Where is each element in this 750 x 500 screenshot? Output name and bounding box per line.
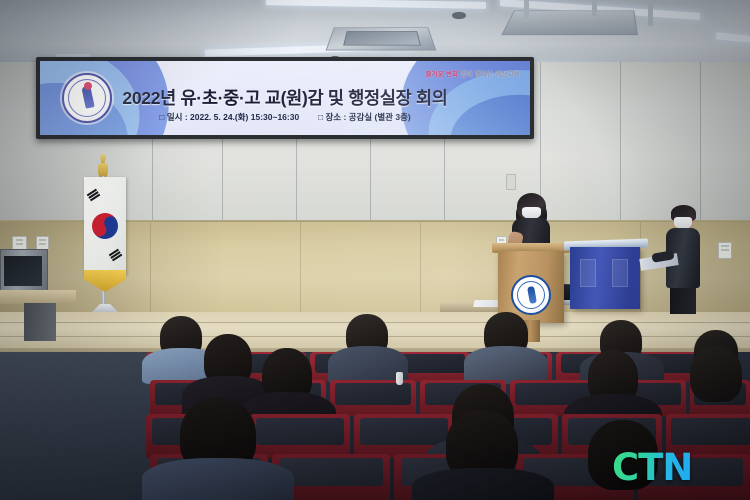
water-bottle[interactable] [396, 372, 403, 385]
cabinet-panel [580, 259, 596, 287]
attendee-shoulders [142, 458, 294, 500]
auditorium-seat[interactable] [330, 380, 416, 416]
banner-subline: □ 일시 : 2022. 5. 24.(화) 15:30~16:30 □ 장소 … [40, 111, 530, 123]
blue-av-cabinet [570, 247, 640, 309]
seat-back [360, 418, 448, 445]
ctn-watermark: CTN [612, 446, 692, 489]
banner-headline: 즐거운 변화 함께 행복한 예산교육 [425, 68, 520, 78]
attendee-shoulders [464, 346, 548, 384]
location-marker-icon: □ [318, 112, 323, 122]
banner-headline-gray: 함께 행복한 예산교육 [460, 71, 520, 78]
wall-outlet[interactable] [12, 236, 27, 250]
seat-back [256, 418, 344, 445]
taeguk-symbol-icon [87, 208, 123, 244]
attendee-shoulders [412, 468, 554, 500]
banner-title: 2022년 유·초·중·고 교(원)감 및 행정실장 회의 [40, 85, 530, 110]
staff-legs [670, 284, 696, 314]
side-table-left [0, 290, 76, 304]
screenshot-root: 즐거운 변화 함께 행복한 예산교육 2022년 유·초·중·고 교(원)감 및… [0, 0, 750, 500]
trigram-gon [109, 249, 123, 262]
flag-fringe [84, 270, 126, 292]
cabinet-panel [612, 259, 628, 287]
wall-outlet[interactable] [36, 236, 49, 250]
wall-outlet[interactable] [718, 242, 732, 259]
side-aisle-floor [0, 352, 150, 500]
school-crest-icon [511, 275, 551, 315]
wall-speaker [506, 174, 516, 190]
banner-location: 장소 : 공감실 (별관 3층) [325, 112, 410, 122]
crest-figure [527, 286, 537, 304]
seat-back [335, 383, 411, 405]
trigram-geon [87, 189, 101, 202]
seated-attendee [690, 346, 742, 402]
console-screen [4, 256, 42, 286]
datetime-marker-icon: □ [159, 112, 164, 122]
screen-surface: 즐거운 변화 함께 행복한 예산교육 2022년 유·초·중·고 교(원)감 및… [40, 61, 530, 135]
ceiling-shading [0, 0, 750, 62]
flag-cloth [84, 177, 126, 275]
banner-datetime: 일시 : 2022. 5. 24.(화) 15:30~16:30 [167, 112, 299, 122]
auditorium-seat[interactable] [250, 414, 350, 458]
seat-back [279, 458, 383, 487]
presentation-screen[interactable]: 즐거운 변화 함께 행복한 예산교육 2022년 유·초·중·고 교(원)감 및… [36, 57, 534, 139]
table-pedestal [24, 303, 56, 341]
banner-headline-red: 즐거운 변화 [425, 71, 458, 78]
seat-back [671, 418, 750, 445]
